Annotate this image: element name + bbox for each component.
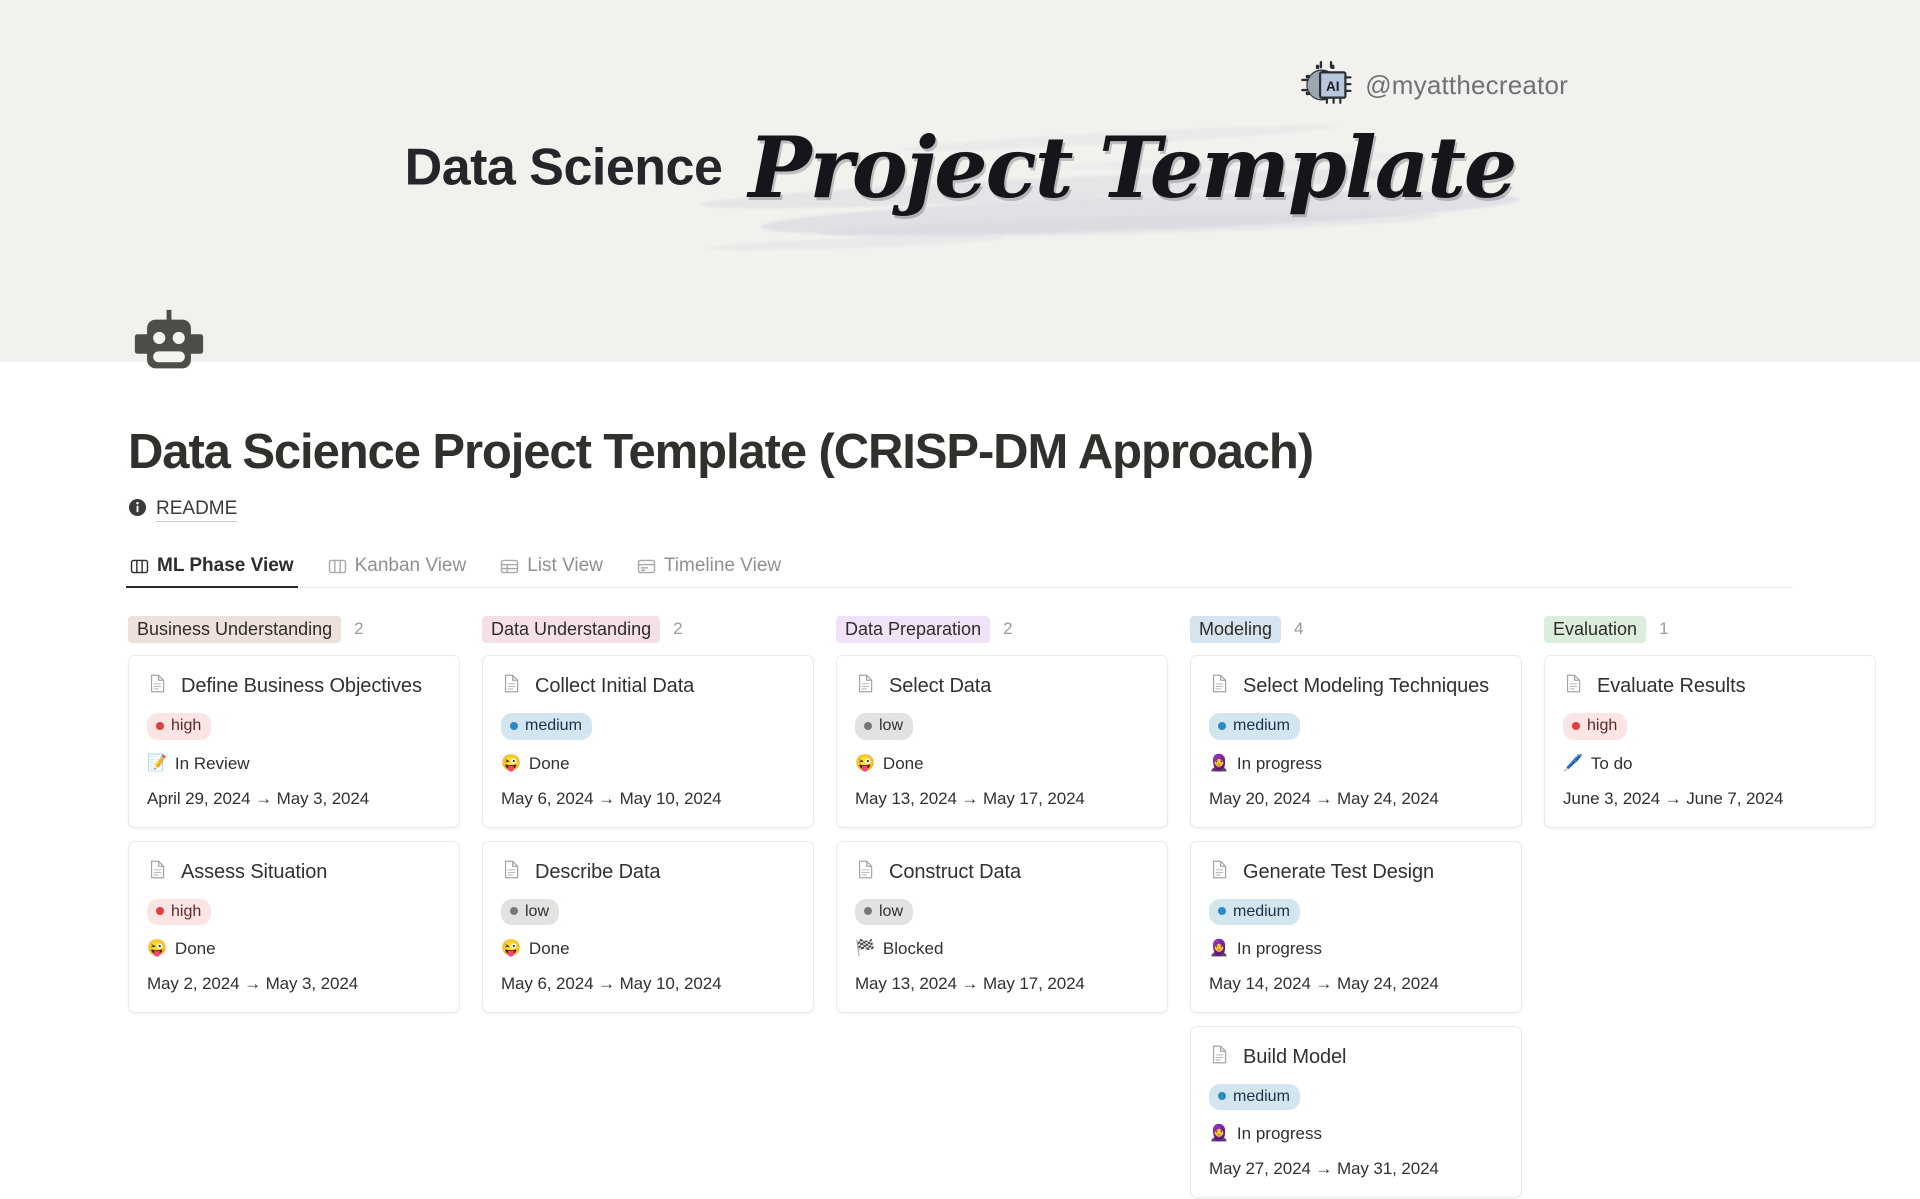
card-title-row: Build Model (1209, 1044, 1503, 1070)
card-date-range: May 13, 2024 → May 17, 2024 (855, 974, 1149, 994)
card-title-row: Assess Situation (147, 859, 441, 885)
status-row: 🧕In progress (1209, 1124, 1503, 1144)
page-icon (1209, 673, 1230, 699)
priority-dot (1218, 722, 1226, 730)
column-name-chip: Data Preparation (836, 616, 990, 644)
card-title: Generate Test Design (1243, 860, 1434, 884)
page-icon (1563, 673, 1584, 699)
table-grid-icon (500, 557, 519, 576)
card-date-range: April 29, 2024 → May 3, 2024 (147, 789, 441, 809)
task-card[interactable]: Construct Datalow🏁BlockedMay 13, 2024 → … (836, 841, 1168, 1013)
board-columns-icon (328, 557, 347, 576)
readme-label[interactable]: README (156, 498, 237, 522)
page-icon (501, 673, 522, 699)
column-header: Data Understanding2 (482, 616, 814, 642)
column-name-chip: Business Understanding (128, 616, 341, 644)
status-row: 😜Done (501, 939, 795, 959)
task-card[interactable]: Assess Situationhigh😜DoneMay 2, 2024 → M… (128, 841, 460, 1013)
status-emoji: 😜 (501, 941, 521, 957)
column-header: Data Preparation2 (836, 616, 1168, 642)
task-card[interactable]: Evaluate Resultshigh🖊️To doJune 3, 2024 … (1544, 655, 1876, 827)
priority-label: medium (1233, 902, 1290, 921)
ml-phase-board: Business Understanding2Define Business O… (128, 616, 1920, 1199)
priority-badge: low (855, 899, 913, 925)
priority-dot (156, 722, 164, 730)
card-title: Build Model (1243, 1045, 1346, 1069)
board-columns-icon (130, 557, 149, 576)
board-column: Modeling4Select Modeling Techniquesmediu… (1190, 616, 1522, 1199)
priority-label: low (879, 902, 903, 921)
ai-chip-gear-icon: AI (1299, 58, 1353, 112)
priority-dot (1218, 907, 1226, 915)
priority-badge: high (1563, 713, 1627, 739)
column-card-count: 2 (354, 619, 363, 639)
status-emoji: 🧕 (1209, 756, 1229, 772)
card-date-range: June 3, 2024 → June 7, 2024 (1563, 789, 1857, 809)
card-title: Select Data (889, 674, 991, 698)
task-card[interactable]: Build Modelmedium🧕In progressMay 27, 202… (1190, 1026, 1522, 1198)
status-label: Done (529, 754, 570, 774)
column-header: Modeling4 (1190, 616, 1522, 642)
status-emoji: 😜 (501, 756, 521, 772)
status-row: 📝In Review (147, 754, 441, 774)
status-row: 🖊️To do (1563, 754, 1857, 774)
info-icon (128, 498, 147, 522)
card-title-row: Evaluate Results (1563, 673, 1857, 699)
card-title-row: Collect Initial Data (501, 673, 795, 699)
status-row: 🧕In progress (1209, 939, 1503, 959)
task-card[interactable]: Select Modeling Techniquesmedium🧕In prog… (1190, 655, 1522, 827)
card-date-range: May 6, 2024 → May 10, 2024 (501, 789, 795, 809)
priority-label: high (171, 716, 201, 735)
task-card[interactable]: Define Business Objectiveshigh📝In Review… (128, 655, 460, 827)
priority-badge: high (147, 713, 211, 739)
creator-handle-group: AI @myatthecreator (1299, 58, 1568, 112)
board-column: Data Preparation2Select Datalow😜DoneMay … (836, 616, 1168, 1025)
status-emoji: 😜 (147, 941, 167, 957)
card-title: Collect Initial Data (535, 674, 694, 698)
tab-list-view[interactable]: List View (498, 555, 605, 588)
card-title-row: Generate Test Design (1209, 859, 1503, 885)
column-card-count: 4 (1294, 619, 1303, 639)
priority-label: high (1587, 716, 1617, 735)
status-label: Done (883, 754, 924, 774)
view-tabs: ML Phase View Kanban View (128, 546, 1920, 588)
column-name-chip: Evaluation (1544, 616, 1646, 644)
cover-banner: Data ScienceProject Template (0, 0, 1920, 362)
card-date-range: May 13, 2024 → May 17, 2024 (855, 789, 1149, 809)
card-title: Construct Data (889, 860, 1021, 884)
status-label: Done (175, 939, 216, 959)
status-emoji: 😜 (855, 756, 875, 772)
robot-icon (130, 305, 208, 383)
creator-handle-text: @myatthecreator (1365, 70, 1568, 101)
card-title: Define Business Objectives (181, 674, 422, 698)
tab-label: ML Phase View (157, 555, 294, 577)
priority-label: medium (1233, 1087, 1290, 1106)
priority-badge: medium (1209, 713, 1300, 739)
status-label: In Review (175, 754, 250, 774)
task-card[interactable]: Select Datalow😜DoneMay 13, 2024 → May 17… (836, 655, 1168, 827)
status-emoji: 🧕 (1209, 941, 1229, 957)
priority-label: medium (525, 716, 582, 735)
page-body: Data Science Project Template (CRISP-DM … (0, 424, 1920, 1199)
card-date-range: May 20, 2024 → May 24, 2024 (1209, 789, 1503, 809)
tab-label: Timeline View (664, 555, 781, 577)
priority-dot (510, 907, 518, 915)
column-header: Evaluation1 (1544, 616, 1876, 642)
cover-title-prefix: Data Science (405, 139, 723, 197)
card-title-row: Construct Data (855, 859, 1149, 885)
priority-dot (864, 722, 872, 730)
status-label: In progress (1237, 939, 1322, 959)
priority-badge: medium (501, 713, 592, 739)
card-date-range: May 6, 2024 → May 10, 2024 (501, 974, 795, 994)
board-column: Business Understanding2Define Business O… (128, 616, 460, 1025)
tab-kanban-view[interactable]: Kanban View (326, 555, 469, 588)
status-label: Blocked (883, 939, 943, 959)
status-emoji: 📝 (147, 756, 167, 772)
card-title-row: Select Data (855, 673, 1149, 699)
card-title: Assess Situation (181, 860, 327, 884)
status-label: In progress (1237, 754, 1322, 774)
tab-ml-phase-view[interactable]: ML Phase View (128, 555, 296, 588)
priority-dot (156, 907, 164, 915)
page-icon (147, 859, 168, 885)
card-title-row: Select Modeling Techniques (1209, 673, 1503, 699)
status-row: 😜Done (501, 754, 795, 774)
status-label: Done (529, 939, 570, 959)
priority-badge: high (147, 899, 211, 925)
column-card-count: 1 (1659, 619, 1668, 639)
status-row: 😜Done (147, 939, 441, 959)
tab-label: List View (527, 555, 603, 577)
page-icon (855, 673, 876, 699)
priority-label: low (879, 716, 903, 735)
column-name-chip: Modeling (1190, 616, 1281, 644)
page-title: Data Science Project Template (CRISP-DM … (128, 424, 1920, 480)
tab-timeline-view[interactable]: Timeline View (635, 555, 783, 588)
card-title-row: Define Business Objectives (147, 673, 441, 699)
priority-label: low (525, 902, 549, 921)
status-row: 🧕In progress (1209, 754, 1503, 774)
status-emoji: 🏁 (855, 941, 875, 957)
cover-title: Data ScienceProject Template (0, 118, 1920, 217)
card-title: Describe Data (535, 860, 660, 884)
task-card[interactable]: Collect Initial Datamedium😜DoneMay 6, 20… (482, 655, 814, 827)
priority-dot (1572, 722, 1580, 730)
priority-label: high (171, 902, 201, 921)
cover-artwork: Data ScienceProject Template (0, 0, 1920, 362)
column-name-chip: Data Understanding (482, 616, 660, 644)
page-icon (1209, 1044, 1230, 1070)
priority-label: medium (1233, 716, 1290, 735)
page-icon (501, 859, 522, 885)
cover-title-main: Project Template (748, 118, 1515, 217)
board-column: Data Understanding2Collect Initial Datam… (482, 616, 814, 1025)
priority-badge: low (501, 899, 559, 925)
card-date-range: May 27, 2024 → May 31, 2024 (1209, 1159, 1503, 1179)
svg-text:AI: AI (1326, 79, 1340, 94)
card-title-row: Describe Data (501, 859, 795, 885)
task-card[interactable]: Generate Test Designmedium🧕In progressMa… (1190, 841, 1522, 1013)
page-icon (147, 673, 168, 699)
priority-dot (864, 907, 872, 915)
page-icon (855, 859, 876, 885)
card-title: Evaluate Results (1597, 674, 1745, 698)
column-card-count: 2 (1003, 619, 1012, 639)
timeline-icon (637, 557, 656, 576)
priority-dot (1218, 1092, 1226, 1100)
readme-row[interactable]: README (128, 498, 1920, 522)
card-title: Select Modeling Techniques (1243, 674, 1489, 698)
card-date-range: May 2, 2024 → May 3, 2024 (147, 974, 441, 994)
status-row: 😜Done (855, 754, 1149, 774)
column-card-count: 2 (673, 619, 682, 639)
column-header: Business Understanding2 (128, 616, 460, 642)
tab-label: Kanban View (355, 555, 467, 577)
status-label: In progress (1237, 1124, 1322, 1144)
status-emoji: 🖊️ (1563, 756, 1583, 772)
status-row: 🏁Blocked (855, 939, 1149, 959)
card-date-range: May 14, 2024 → May 24, 2024 (1209, 974, 1503, 994)
priority-dot (510, 722, 518, 730)
priority-badge: medium (1209, 1084, 1300, 1110)
task-card[interactable]: Describe Datalow😜DoneMay 6, 2024 → May 1… (482, 841, 814, 1013)
board-column: Evaluation1Evaluate Resultshigh🖊️To doJu… (1544, 616, 1876, 840)
status-label: To do (1591, 754, 1633, 774)
priority-badge: low (855, 713, 913, 739)
priority-badge: medium (1209, 899, 1300, 925)
page-icon (1209, 859, 1230, 885)
status-emoji: 🧕 (1209, 1126, 1229, 1142)
